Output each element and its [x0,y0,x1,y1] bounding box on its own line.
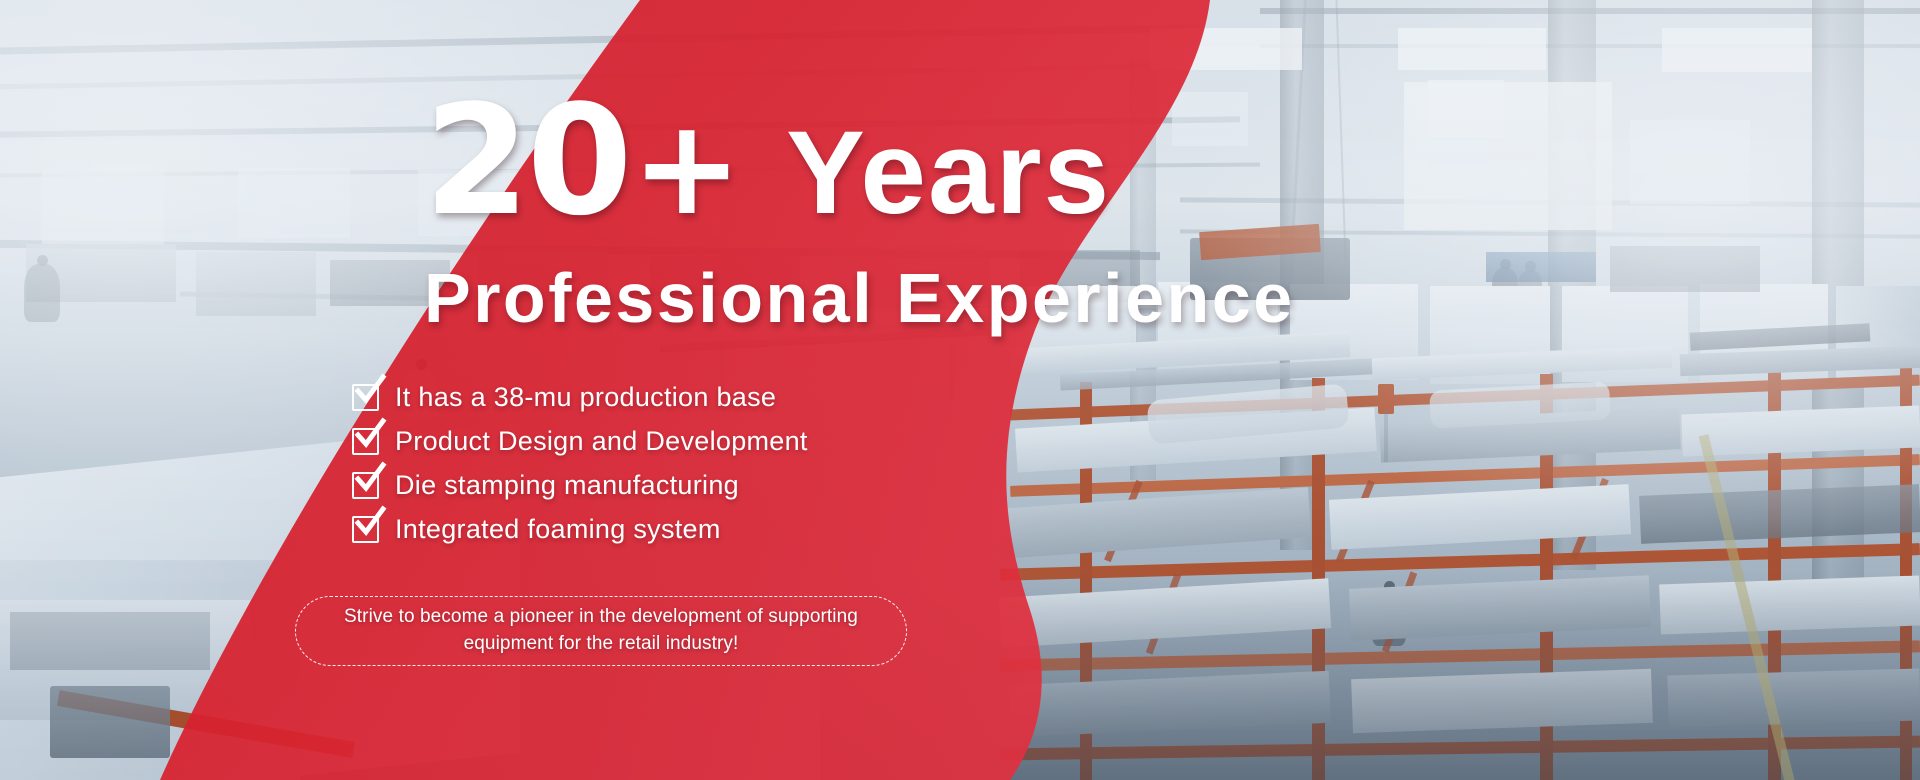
checkbox-checked-icon [352,384,379,411]
headline: 20 + Years [424,88,1111,234]
list-item: Product Design and Development [352,426,808,457]
banner-content: 20 + Years Professional Experience It ha… [0,0,1920,780]
list-item: Integrated foaming system [352,514,808,545]
headline-plus-sign: + [632,105,743,232]
headline-years-word: Years [786,114,1111,232]
feature-label: Die stamping manufacturing [395,470,739,501]
slogan-text: Strive to become a pioneer in the develo… [338,604,864,658]
checkbox-checked-icon [352,472,379,499]
feature-label: Integrated foaming system [395,514,721,545]
list-item: It has a 38-mu production base [352,382,808,413]
feature-list: It has a 38-mu production base Product D… [352,382,808,545]
subheadline: Professional Experience [424,258,1295,338]
slogan-box: Strive to become a pioneer in the develo… [295,596,907,666]
feature-label: Product Design and Development [395,426,808,457]
headline-number: 20 [424,88,630,234]
checkbox-checked-icon [352,428,379,455]
checkbox-checked-icon [352,516,379,543]
list-item: Die stamping manufacturing [352,470,808,501]
feature-label: It has a 38-mu production base [395,382,776,413]
hero-banner: 20 + Years Professional Experience It ha… [0,0,1920,780]
